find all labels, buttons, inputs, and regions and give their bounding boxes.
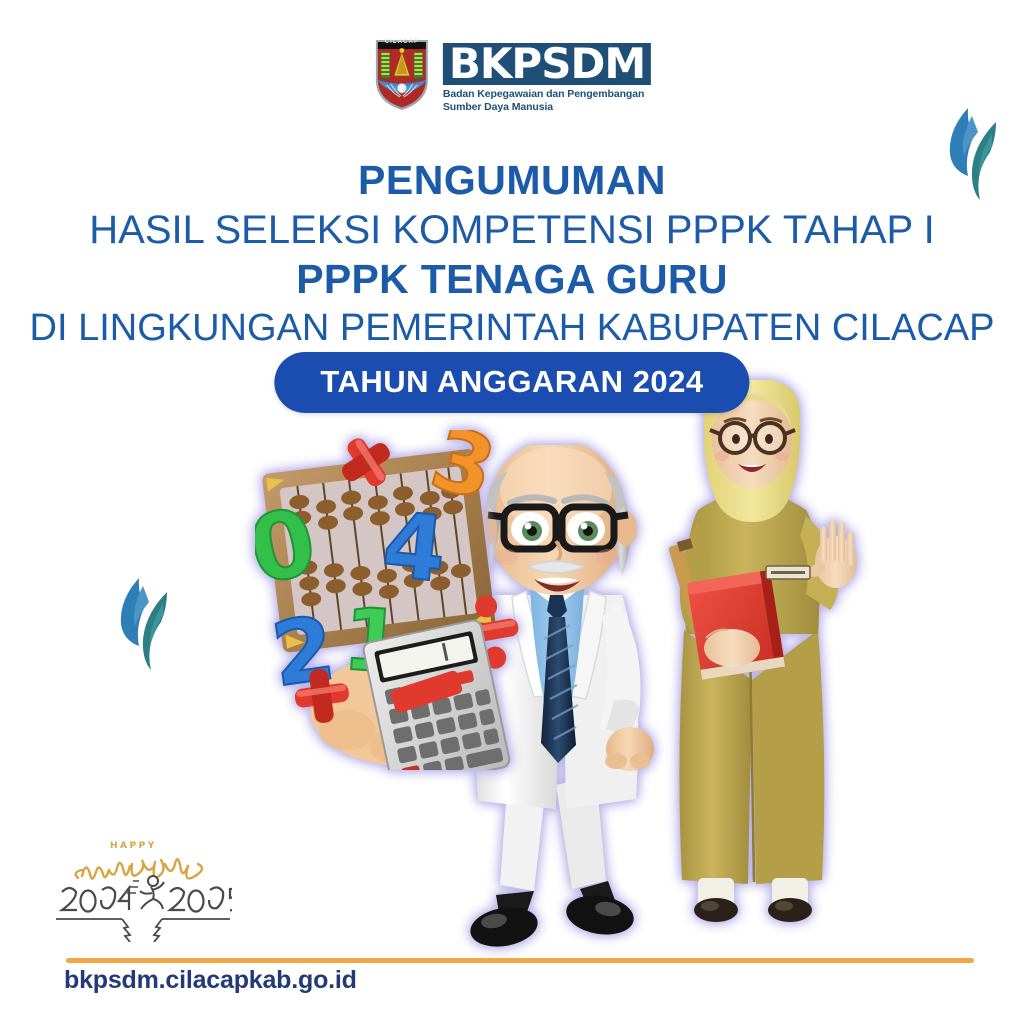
- website-url[interactable]: bkpsdm.cilacapkab.go.id: [64, 966, 357, 995]
- svg-text:4: 4: [378, 492, 451, 603]
- bkpsdm-text: BKPSDM: [449, 45, 645, 84]
- brand-subtitle-line1: Badan Kepegawaian dan Pengembangan: [443, 88, 651, 101]
- bkpsdm-wordmark: BKPSDM Badan Kepegawaian dan Pengembanga…: [443, 38, 651, 114]
- leaf-flame-ornament-icon-right: [934, 104, 1012, 202]
- math-props-cluster: 3 0 4 2 1: [255, 430, 545, 770]
- headline-line-1: PENGUMUMAN: [0, 158, 1024, 203]
- footer-divider: [66, 958, 974, 963]
- happy-new-year-2024-2025-doodle: HAPPY: [52, 832, 232, 942]
- newyear-happy-text: HAPPY: [110, 841, 157, 851]
- poster-canvas: CILACAP: [0, 0, 1024, 1024]
- year-banner: TAHUN ANGGARAN 2024: [274, 352, 749, 413]
- headline-line-3: PPPK TENAGA GURU: [0, 257, 1024, 302]
- headline-line-2: HASIL SELEKSI KOMPETENSI PPPK TAHAP I: [0, 208, 1024, 252]
- brand-subtitle: Badan Kepegawaian dan Pengembangan Sumbe…: [443, 88, 651, 114]
- brand-subtitle-line2: Sumber Daya Manusia: [443, 101, 651, 114]
- headline-block: PENGUMUMAN HASIL SELEKSI KOMPETENSI PPPK…: [0, 158, 1024, 350]
- cilacap-regency-coat-of-arms-icon: CILACAP: [373, 38, 431, 112]
- bkpsdm-navy-block: BKPSDM: [443, 43, 651, 85]
- brand-header: CILACAP: [373, 38, 651, 114]
- crest-text: CILACAP: [373, 38, 431, 47]
- headline-line-4: DI LINGKUNGAN PEMERINTAH KABUPATEN CILAC…: [0, 308, 1024, 350]
